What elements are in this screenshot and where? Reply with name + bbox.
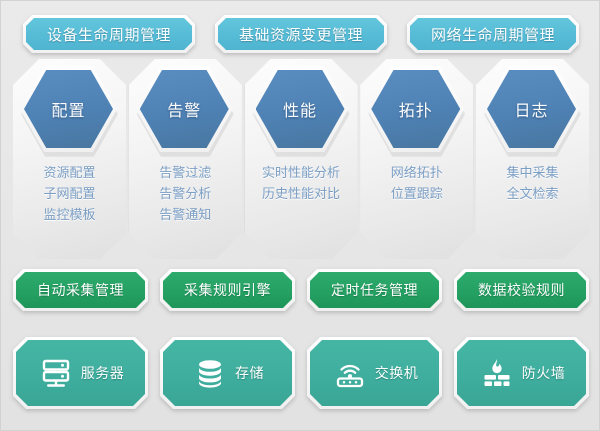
device-card-firewall[interactable]: 防火墙 (454, 337, 589, 409)
column-title: 告警 (167, 97, 201, 121)
list-item[interactable]: 告警分析 (129, 184, 242, 205)
card-body: 服务器 (16, 340, 145, 406)
list-item[interactable]: 资源配置 (13, 163, 126, 184)
button-body: 自动采集管理 (16, 272, 145, 308)
green-button-label: 自动采集管理 (37, 280, 124, 300)
list-item[interactable]: 全文检索 (476, 184, 589, 205)
card-body: 防火墙 (457, 340, 586, 406)
column-title: 日志 (514, 97, 548, 121)
architecture-diagram: 设备生命周期管理 基础资源变更管理 网络生命周期管理 配置 资源配置 (0, 0, 600, 431)
list-item[interactable]: 历史性能对比 (245, 184, 358, 205)
device-card-storage[interactable]: 存储 (160, 337, 295, 409)
button-body: 基础资源变更管理 (218, 18, 384, 50)
green-button-auto-collection[interactable]: 自动采集管理 (13, 269, 148, 311)
card-body: 存储 (163, 340, 292, 406)
list-item[interactable]: 告警通知 (129, 205, 242, 226)
column-title: 拓扑 (399, 97, 433, 121)
button-body: 定时任务管理 (310, 272, 439, 308)
device-card-server[interactable]: 服务器 (13, 337, 148, 409)
button-body: 采集规则引擎 (163, 272, 292, 308)
top-button-resource-change[interactable]: 基础资源变更管理 (215, 15, 387, 53)
column-title: 配置 (51, 97, 85, 121)
device-label: 交换机 (375, 363, 419, 383)
router-wifi-icon (331, 354, 369, 392)
green-button-data-validation-rule[interactable]: 数据校验规则 (454, 269, 589, 311)
list-item[interactable]: 位置跟踪 (360, 184, 473, 205)
list-item[interactable]: 集中采集 (476, 163, 589, 184)
top-button-label: 设备生命周期管理 (47, 24, 171, 45)
server-icon (37, 354, 75, 392)
device-type-row: 服务器 存储 (1, 337, 600, 409)
green-button-label: 定时任务管理 (331, 280, 418, 300)
list-item[interactable]: 实时性能分析 (245, 163, 358, 184)
database-icon (191, 354, 229, 392)
green-button-collection-rule-engine[interactable]: 采集规则引擎 (160, 269, 295, 311)
device-label: 存储 (235, 363, 264, 383)
button-body: 网络生命周期管理 (410, 18, 576, 50)
column-title: 性能 (283, 97, 317, 121)
top-button-label: 网络生命周期管理 (431, 24, 555, 45)
capability-column-performance[interactable]: 性能 实时性能分析 历史性能对比 (245, 59, 358, 259)
capability-column-alarm[interactable]: 告警 告警过滤 告警分析 告警通知 (129, 59, 242, 259)
top-button-device-lifecycle[interactable]: 设备生命周期管理 (23, 15, 195, 53)
top-button-network-lifecycle[interactable]: 网络生命周期管理 (407, 15, 579, 53)
capability-column-log[interactable]: 日志 集中采集 全文检索 (476, 59, 589, 259)
green-button-label: 采集规则引擎 (184, 280, 271, 300)
firewall-icon (478, 354, 516, 392)
column-item-list: 资源配置 子网配置 监控模板 (13, 163, 126, 226)
top-button-label: 基础资源变更管理 (239, 24, 363, 45)
column-item-list: 告警过滤 告警分析 告警通知 (129, 163, 242, 226)
column-item-list: 实时性能分析 历史性能对比 (245, 163, 358, 205)
device-label: 服务器 (81, 363, 125, 383)
collection-service-row: 自动采集管理 采集规则引擎 定时任务管理 数据校验规则 (1, 269, 600, 311)
button-body: 设备生命周期管理 (26, 18, 192, 50)
capability-column-row: 配置 资源配置 子网配置 监控模板 告警 告警过滤 告警分析 告警通知 (1, 59, 600, 259)
green-button-label: 数据校验规则 (478, 280, 565, 300)
list-item[interactable]: 子网配置 (13, 184, 126, 205)
green-button-scheduled-task[interactable]: 定时任务管理 (307, 269, 442, 311)
card-body: 交换机 (310, 340, 439, 406)
device-card-switch[interactable]: 交换机 (307, 337, 442, 409)
list-item[interactable]: 监控模板 (13, 205, 126, 226)
capability-column-topology[interactable]: 拓扑 网络拓扑 位置跟踪 (360, 59, 473, 259)
list-item[interactable]: 网络拓扑 (360, 163, 473, 184)
device-label: 防火墙 (522, 363, 566, 383)
button-body: 数据校验规则 (457, 272, 586, 308)
column-item-list: 网络拓扑 位置跟踪 (360, 163, 473, 205)
top-button-row: 设备生命周期管理 基础资源变更管理 网络生命周期管理 (1, 15, 600, 53)
column-item-list: 集中采集 全文检索 (476, 163, 589, 205)
list-item[interactable]: 告警过滤 (129, 163, 242, 184)
capability-column-config[interactable]: 配置 资源配置 子网配置 监控模板 (13, 59, 126, 259)
